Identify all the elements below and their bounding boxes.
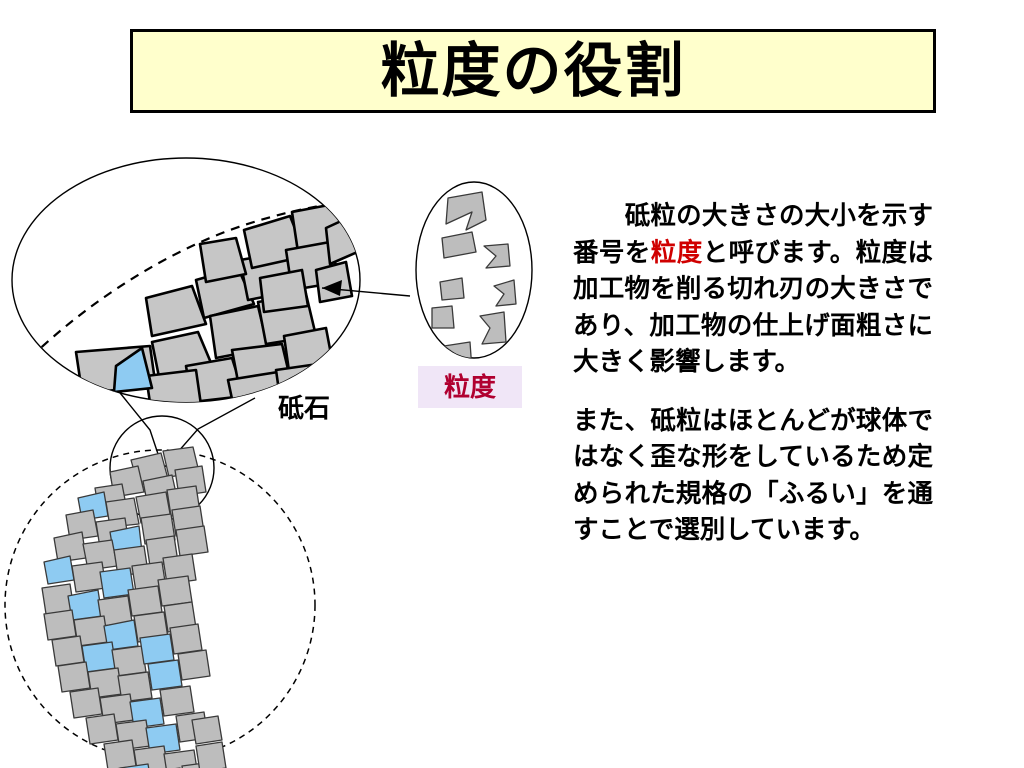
page-title: 粒度の役割 (380, 42, 685, 101)
magnified-grain-cluster (76, 204, 362, 418)
slide-title-box: 粒度の役割 (130, 29, 936, 113)
body-text-block: 砥粒の大きさの大小を示す番号を粒度と呼びます。粒度は加工物を削る切れ刃の大きさで… (573, 198, 933, 549)
slide-canvas: 粒度の役割 .g-big { fill:#c6c6c6; stroke:#000… (0, 0, 1024, 768)
wheel-grain-band (42, 447, 226, 768)
paragraph-1-highlight: 粒度 (651, 239, 703, 267)
grinding-wheel-label: 砥石 (278, 395, 330, 421)
loose-grains-oval (416, 182, 532, 370)
grinding-wheel-diagram: .g-big { fill:#c6c6c6; stroke:#000000; s… (0, 120, 560, 768)
paragraph-1: 砥粒の大きさの大小を示す番号を粒度と呼びます。粒度は加工物を削る切れ刃の大きさで… (573, 198, 933, 381)
paragraph-2: また、砥粒はほとんどが球体ではなく歪な形をしているため定められた規格の「ふるい」… (573, 403, 933, 549)
grinding-wheel (5, 416, 315, 768)
grain-size-label: 粒度 (444, 374, 496, 400)
grain-size-label-box: 粒度 (418, 366, 522, 408)
loose-grains-group (432, 192, 516, 370)
